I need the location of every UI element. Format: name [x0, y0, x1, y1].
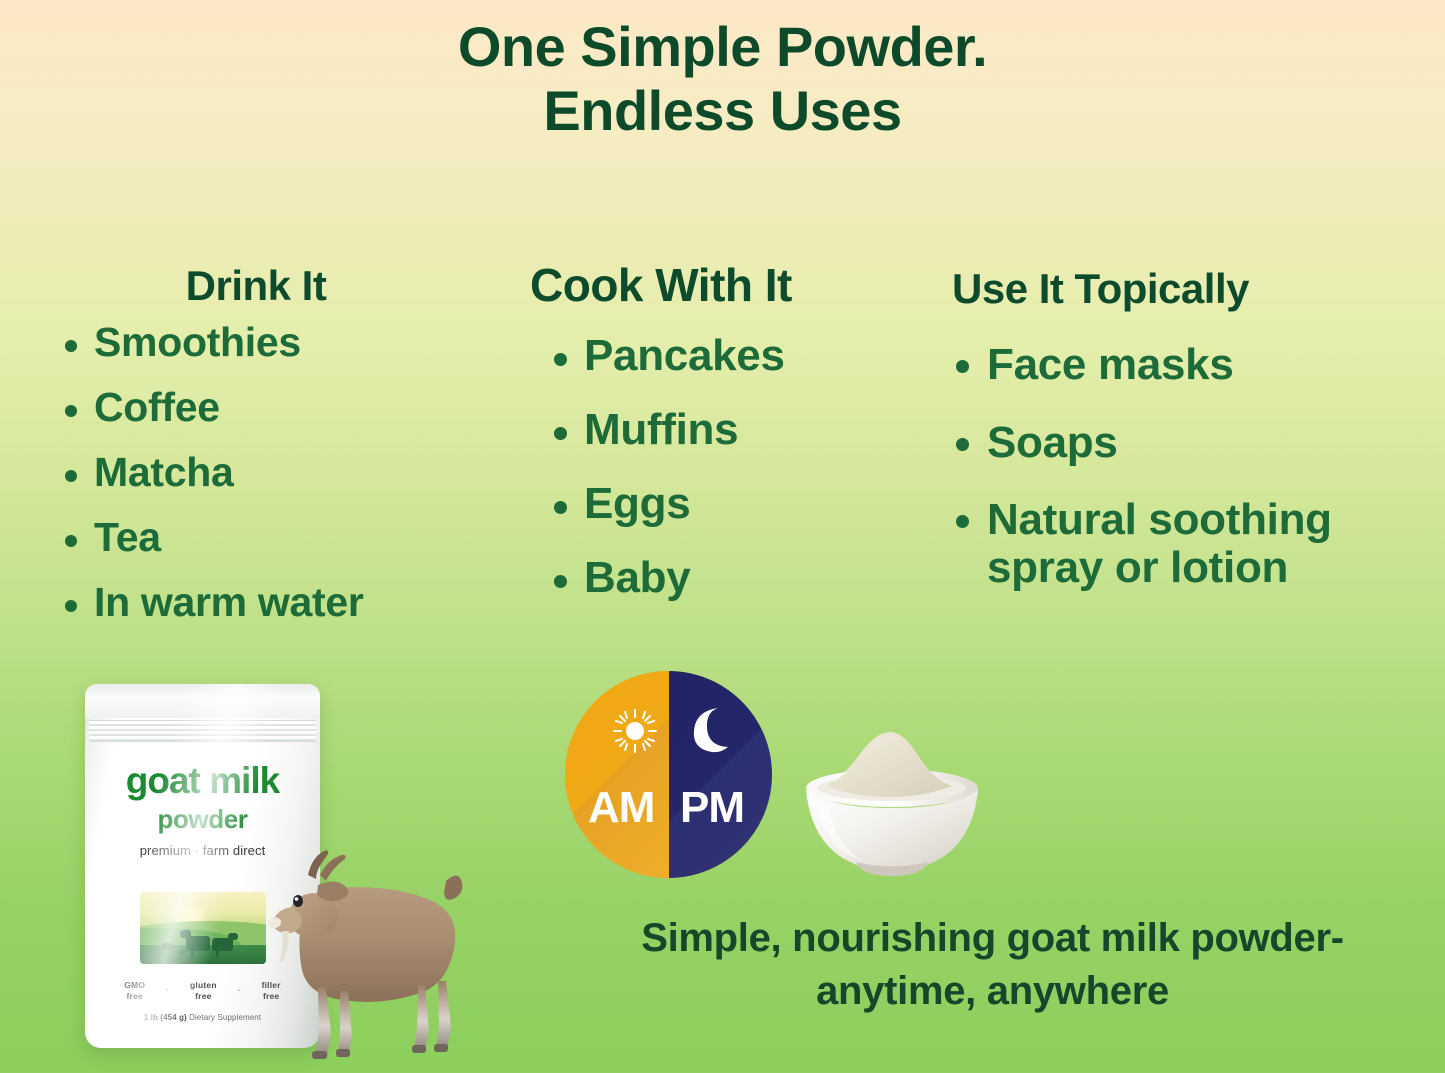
list-item: Matcha — [55, 452, 485, 493]
bullet-dot-icon — [65, 405, 77, 417]
goat-eye — [293, 895, 303, 907]
list-item-label: Muffins — [584, 408, 738, 452]
column-heading-use-it-topically: Use It Topically — [952, 265, 1445, 313]
bullet-dot-icon — [956, 438, 969, 451]
goat-leg — [315, 987, 331, 1057]
badge-separator-dot: · — [238, 986, 241, 996]
goat-eye-glint — [295, 897, 299, 901]
usage-column-drink-it: Drink It Smoothies Coffee Matcha Tea In … — [55, 262, 485, 647]
goat-hoof — [412, 1045, 426, 1053]
list-item: In warm water — [55, 582, 485, 623]
page-title: One Simple Powder. Endless Uses — [0, 18, 1445, 139]
drink-it-list: Smoothies Coffee Matcha Tea In warm wate… — [55, 322, 485, 623]
caption-line-2: anytime, anywhere — [816, 969, 1169, 1013]
goat-tail — [444, 875, 462, 899]
list-item: Smoothies — [55, 322, 485, 363]
list-item: Muffins — [530, 408, 930, 452]
am-half-orange — [565, 671, 669, 878]
list-item-label: Soaps — [987, 419, 1118, 467]
bullet-dot-icon — [65, 600, 77, 612]
title-line-2: Endless Uses — [0, 82, 1445, 139]
bag-net-weight-value: 1 lb (454 g) — [144, 1013, 187, 1022]
list-item: Baby — [530, 556, 930, 600]
cook-with-it-list: Pancakes Muffins Eggs Baby — [530, 334, 930, 600]
list-item: Tea — [55, 517, 485, 558]
goat-leg — [414, 985, 429, 1051]
list-item-label: Tea — [94, 517, 161, 558]
goat-beard — [280, 931, 289, 962]
list-item-label: In warm water — [94, 582, 364, 623]
infographic-canvas: One Simple Powder. Endless Uses Drink It… — [0, 0, 1445, 1073]
list-item: Pancakes — [530, 334, 930, 378]
bowl-of-powder-image — [786, 722, 998, 887]
bag-zipper-ridges — [89, 720, 316, 742]
list-item-label: Natural soothing spray or lotion — [987, 496, 1445, 591]
bullet-dot-icon — [554, 427, 567, 440]
list-item-label: Coffee — [94, 387, 220, 428]
list-item-label: Face masks — [987, 341, 1234, 389]
powder-top — [826, 736, 952, 797]
moon-icon — [688, 707, 730, 753]
badge-bottom-word: free — [190, 991, 217, 1002]
bullet-dot-icon — [554, 501, 567, 514]
column-heading-cook-with-it: Cook With It — [530, 258, 930, 312]
title-line-1: One Simple Powder. — [458, 15, 987, 78]
bullet-dot-icon — [956, 515, 969, 528]
bullet-dot-icon — [65, 470, 77, 482]
list-item: Face masks — [952, 341, 1445, 389]
am-pm-badge: AM PM — [565, 671, 772, 878]
badge-separator-dot: · — [166, 986, 169, 996]
list-item: Coffee — [55, 387, 485, 428]
farm-scene-illustration — [140, 892, 266, 964]
am-label: AM — [588, 783, 654, 833]
badge-gluten-free: gluten free — [190, 980, 217, 1001]
bullet-dot-icon — [65, 340, 77, 352]
bag-label-text-block: goat milk powder premium · farm direct — [85, 762, 320, 858]
badge-bottom-word: free — [124, 991, 145, 1002]
list-item: Eggs — [530, 482, 930, 526]
goat-hoof — [312, 1051, 327, 1059]
sun-icon — [613, 709, 657, 753]
list-item-label: Matcha — [94, 452, 233, 493]
bullet-dot-icon — [65, 535, 77, 547]
usage-column-cook-with-it: Cook With It Pancakes Muffins Eggs Baby — [530, 258, 930, 630]
goat-illustration — [268, 845, 483, 1073]
list-item-label: Smoothies — [94, 322, 301, 363]
goat-hoof — [336, 1049, 350, 1057]
caption-line-1: Simple, nourishing goat milk powder- — [641, 916, 1344, 960]
column-heading-drink-it: Drink It — [55, 262, 485, 310]
bullet-dot-icon — [554, 575, 567, 588]
bag-brand-name: goat milk — [85, 762, 320, 799]
badge-top-word: GMO — [124, 980, 145, 991]
list-item: Natural soothing spray or lotion — [952, 496, 1445, 591]
list-item-label: Pancakes — [584, 334, 785, 378]
list-item: Soaps — [952, 419, 1445, 467]
bag-top-seal — [85, 684, 320, 718]
usage-column-use-it-topically: Use It Topically Face masks Soaps Natura… — [952, 265, 1445, 621]
badge-top-word: gluten — [190, 980, 217, 991]
goat-leg — [436, 981, 451, 1050]
scene-goat-silhouette — [186, 936, 210, 951]
bullet-dot-icon — [956, 360, 969, 373]
bag-supplement-note: Dietary Supplement — [187, 1013, 261, 1022]
scene-goat-silhouette — [162, 943, 173, 950]
goat-hoof — [434, 1044, 448, 1052]
bag-product-type: powder — [85, 806, 320, 832]
bottom-caption: Simple, nourishing goat milk powder- any… — [545, 912, 1440, 1018]
goat-nose — [268, 917, 281, 928]
pm-label: PM — [680, 783, 744, 833]
pm-half-navy — [669, 671, 773, 878]
use-it-topically-list: Face masks Soaps Natural soothing spray … — [952, 341, 1445, 591]
bullet-dot-icon — [554, 353, 567, 366]
scene-goat-silhouette — [212, 938, 233, 951]
list-item-label: Baby — [584, 556, 690, 600]
badge-gmo-free: GMO free — [124, 980, 145, 1001]
list-item-label: Eggs — [584, 482, 690, 526]
